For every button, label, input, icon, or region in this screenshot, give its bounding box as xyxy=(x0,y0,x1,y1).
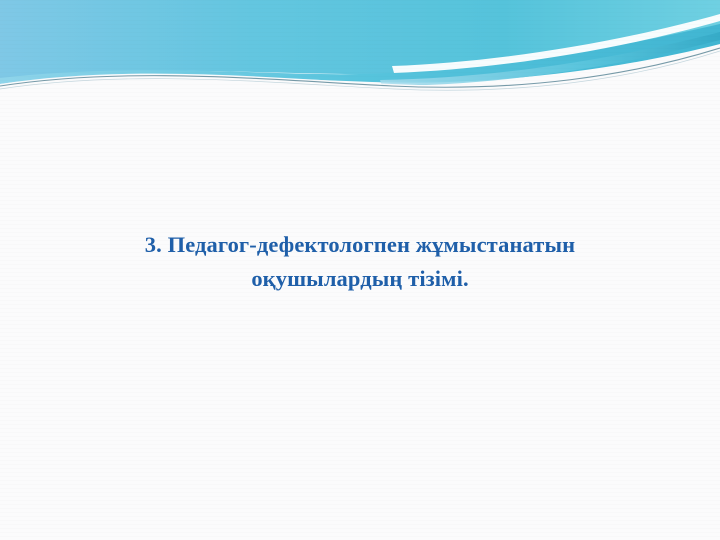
slide-title-line-1: 3. Педагог-дефектологпен жұмыстанатын xyxy=(60,228,660,262)
slide-title-line-2: оқушылардың тізімі. xyxy=(60,262,660,296)
teal-wave-banner xyxy=(0,0,720,120)
slide-canvas: 3. Педагог-дефектологпен жұмыстанатын оқ… xyxy=(0,0,720,540)
slide-title-block: 3. Педагог-дефектологпен жұмыстанатын оқ… xyxy=(60,228,660,296)
